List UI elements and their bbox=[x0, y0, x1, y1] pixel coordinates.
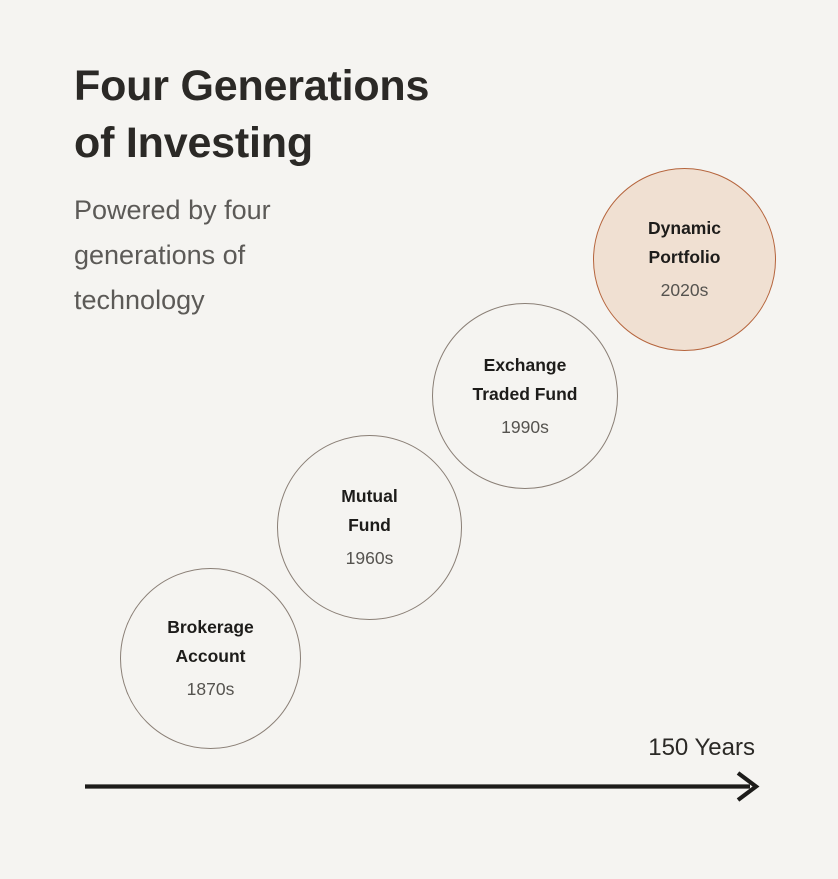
page-title: Four Generations of Investing bbox=[74, 58, 544, 172]
timeline-node-label: Brokerage Account bbox=[157, 613, 264, 671]
timeline-node-decade: 2020s bbox=[661, 272, 709, 305]
timeline-node-brokerage-account[interactable]: Brokerage Account 1870s bbox=[120, 568, 301, 749]
page-subtitle: Powered by four generations of technolog… bbox=[74, 172, 544, 323]
timeline-node-dynamic-portfolio[interactable]: Dynamic Portfolio 2020s bbox=[593, 168, 776, 351]
timeline-node-label: Exchange Traded Fund bbox=[463, 351, 588, 409]
timeline-node-decade: 1990s bbox=[501, 409, 549, 442]
timeline-node-mutual-fund[interactable]: Mutual Fund 1960s bbox=[277, 435, 462, 620]
arrow-right-icon bbox=[84, 770, 760, 804]
timeline-node-label: Mutual Fund bbox=[331, 482, 407, 540]
timeline-node-decade: 1870s bbox=[187, 671, 235, 704]
timeline-caption: 150 Years bbox=[560, 733, 755, 763]
headline-block: Four Generations of Investing Powered by… bbox=[74, 58, 544, 323]
timeline-node-label: Dynamic Portfolio bbox=[638, 214, 731, 272]
timeline-node-exchange-traded-fund[interactable]: Exchange Traded Fund 1990s bbox=[432, 303, 618, 489]
infographic-canvas: Four Generations of Investing Powered by… bbox=[0, 0, 838, 879]
timeline-node-decade: 1960s bbox=[346, 540, 394, 573]
